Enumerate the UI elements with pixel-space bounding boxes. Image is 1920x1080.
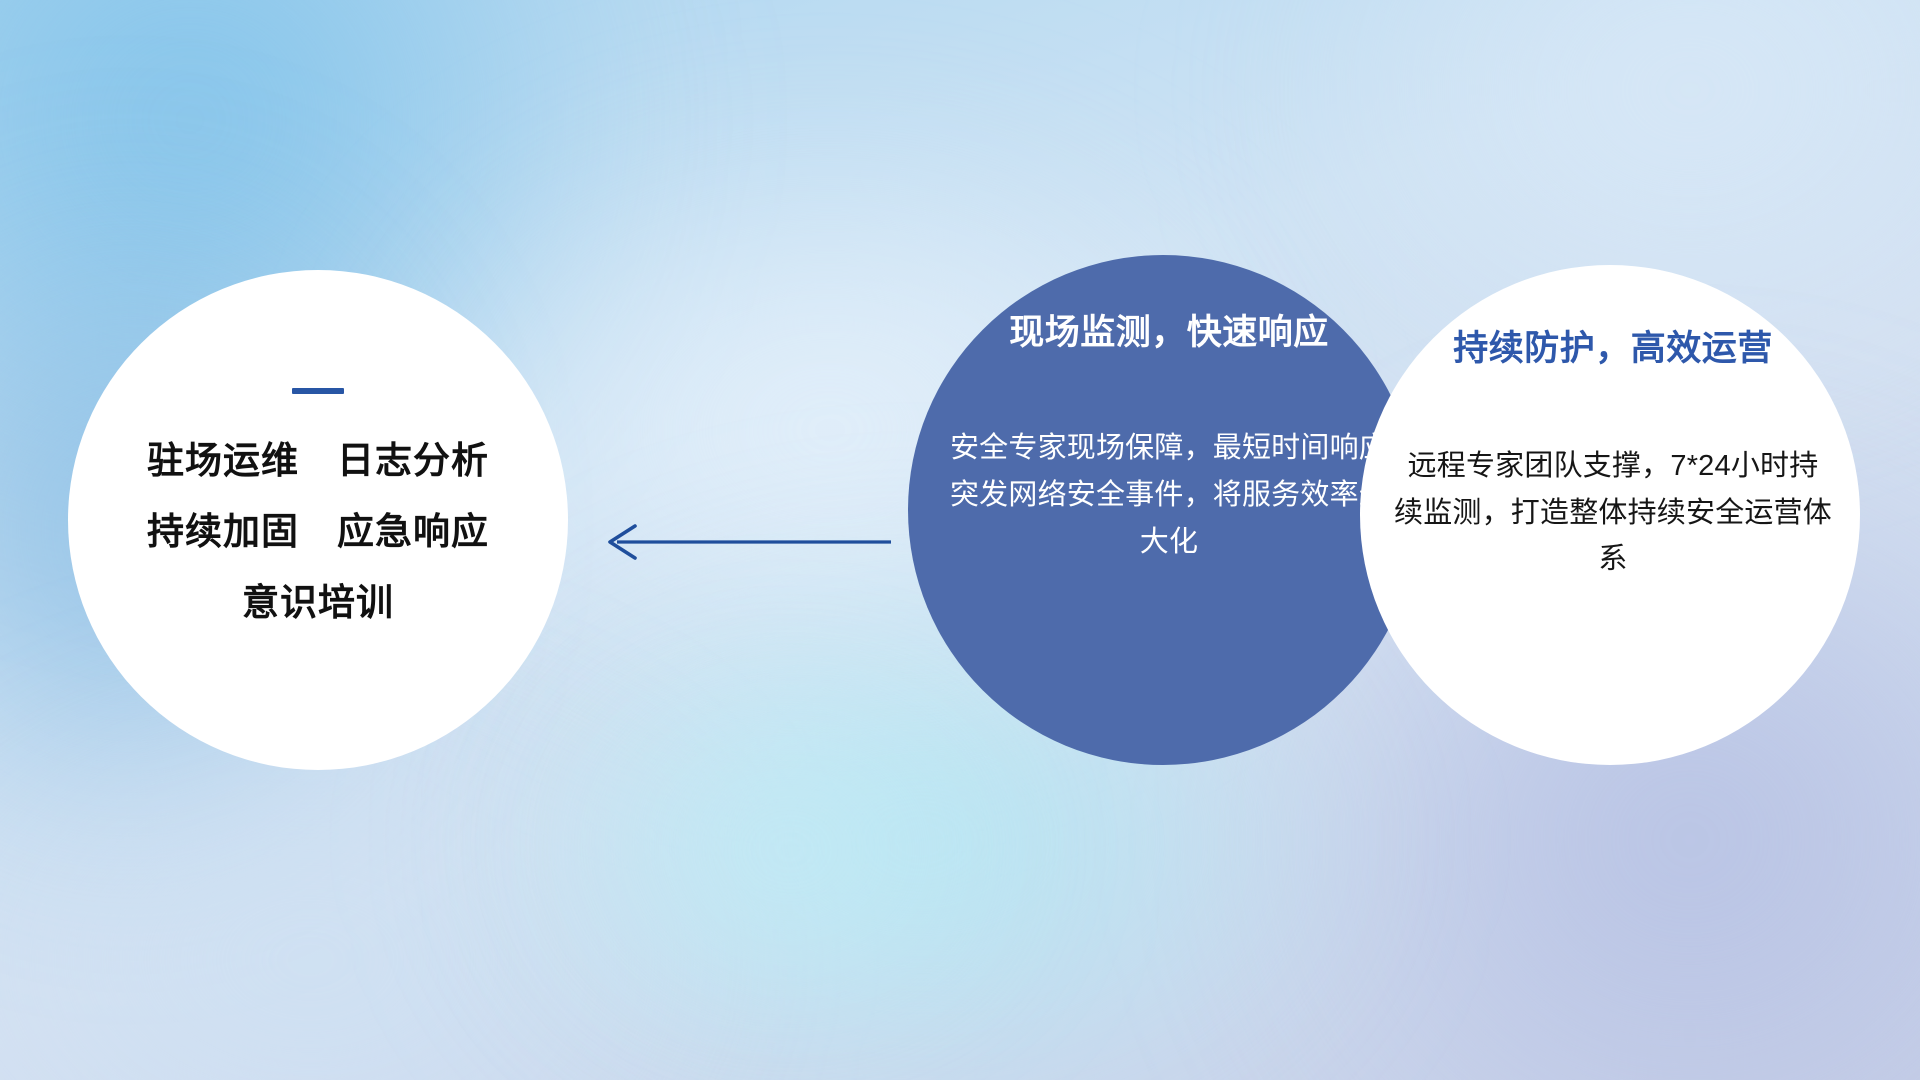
accent-dash-divider	[292, 388, 344, 394]
capability-line-2: 持续加固 应急响应	[68, 513, 568, 550]
capability-line-1: 驻场运维 日志分析	[68, 442, 568, 479]
middle-circle-heading: 现场监测，快速响应	[946, 313, 1392, 353]
right-circle-body: 远程专家团队支撑，7*24小时持续监测，打造整体持续安全运营体系	[1394, 443, 1832, 582]
right-circle-heading: 持续防护，高效运营	[1394, 329, 1832, 369]
capability-circle-middle: 现场监测，快速响应 安全专家现场保障，最短时间响应突发网络安全事件，将服务效率最…	[908, 255, 1418, 765]
middle-circle-content: 现场监测，快速响应 安全专家现场保障，最短时间响应突发网络安全事件，将服务效率最…	[946, 313, 1392, 566]
capability-line-3: 意识培训	[68, 584, 568, 621]
capability-circle-left: 驻场运维 日志分析 持续加固 应急响应 意识培训	[68, 270, 568, 770]
middle-circle-body: 安全专家现场保障，最短时间响应突发网络安全事件，将服务效率最大化	[946, 425, 1392, 566]
slide-canvas: 驻场运维 日志分析 持续加固 应急响应 意识培训 现场监测，快速响应 安全专家现…	[0, 0, 1920, 1080]
background-blob-aqua-core	[560, 700, 1020, 1000]
left-circle-content: 驻场运维 日志分析 持续加固 应急响应 意识培训	[68, 388, 568, 621]
arrow-left-icon	[595, 512, 895, 572]
right-circle-content: 持续防护，高效运营 远程专家团队支撑，7*24小时持续监测，打造整体持续安全运营…	[1394, 329, 1832, 582]
capability-circle-right: 持续防护，高效运营 远程专家团队支撑，7*24小时持续监测，打造整体持续安全运营…	[1360, 265, 1860, 765]
